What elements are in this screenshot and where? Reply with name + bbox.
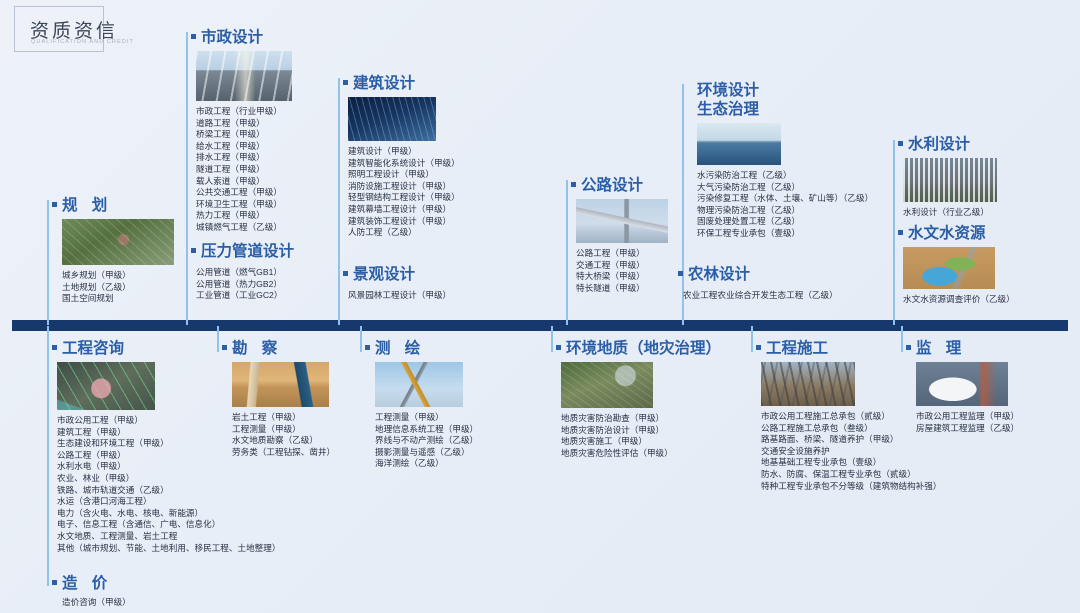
block-municipal-design[interactable]: 市政设计 市政工程（行业甲级） 道路工程（甲级） 桥梁工程（甲级） 给水工程（甲… <box>191 29 341 234</box>
list-item: 水运（含港口河海工程） <box>57 496 382 508</box>
list-item: 大气污染防治工程（乙级） <box>697 182 897 194</box>
theodolite-thumbnail <box>375 362 463 407</box>
square-bullet-icon <box>365 345 370 350</box>
list-item: 公共交通工程（甲级） <box>196 187 341 199</box>
block-environmental-geology-items: 地质灾害防治勘查（甲级） 地质灾害防治设计（甲级） 地质灾害施工（甲级） 地质灾… <box>561 413 756 459</box>
block-landscape-design-items: 风景园林工程设计（甲级） <box>348 290 533 302</box>
block-landscape-design-title: 景观设计 <box>343 266 533 284</box>
list-item: 环境卫生工程（甲级） <box>196 199 341 211</box>
block-environmental-geology-title: 环境地质（地灾治理） <box>556 340 756 358</box>
square-bullet-icon <box>222 345 227 350</box>
list-item: 水文地质、工程测量、岩土工程 <box>57 531 382 543</box>
block-landscape-design[interactable]: 景观设计 风景园林工程设计（甲级） <box>343 266 533 302</box>
list-item: 工程测量（甲级） <box>375 412 535 424</box>
square-bullet-icon <box>343 80 348 85</box>
block-cost-estimating[interactable]: 造 价 造价咨询（甲级） <box>52 575 252 609</box>
list-item: 地基基础工程专业承包（壹级） <box>761 457 986 469</box>
lake-thumbnail <box>697 123 781 165</box>
block-geotechnical-investigation[interactable]: 勘 察 岩土工程（甲级） 工程测量（甲级） 水文地质勘察（乙级） 劳务类（工程钻… <box>222 340 362 458</box>
square-bullet-icon <box>898 230 903 235</box>
block-architectural-design-items: 建筑设计（甲级） 建筑智能化系统设计（甲级） 照明工程设计（甲级） 消防设施工程… <box>348 146 533 239</box>
list-item: 桥梁工程（甲级） <box>196 129 341 141</box>
aerial-village-thumbnail <box>62 219 174 265</box>
block-hydrology-water-resources[interactable]: 水文水资源 水文水资源调查评价（乙级） <box>898 225 1073 306</box>
block-environmental-design[interactable]: 环境设计 生态治理 水污染防治工程（乙级） 大气污染防治工程（乙级） 污染修复工… <box>687 81 897 240</box>
list-item: 市政工程（行业甲级） <box>196 106 341 118</box>
block-surveying-mapping-items: 工程测量（甲级） 地理信息系统工程（甲级） 界线与不动产测绘（乙级） 摄影测量与… <box>375 412 535 470</box>
building-facade-thumbnail <box>348 97 436 141</box>
block-environmental-geology[interactable]: 环境地质（地灾治理） 地质灾害防治勘查（甲级） 地质灾害防治设计（甲级） 地质灾… <box>556 340 756 459</box>
list-item: 路基路面、桥梁、隧道养护（甲级） <box>761 434 986 446</box>
block-supervision-title: 监 理 <box>906 340 1071 358</box>
block-environmental-design-subtitle: 生态治理 <box>687 100 897 119</box>
list-item: 铁路、城市轨道交通（乙级） <box>57 485 382 497</box>
list-item: 建筑装饰工程设计（甲级） <box>348 216 533 228</box>
block-agro-forestry-design-title: 农林设计 <box>678 266 908 284</box>
list-item: 建筑设计（甲级） <box>348 146 533 158</box>
list-item: 其他（城市规划、节能、土地利用、移民工程、土地整理） <box>57 543 382 555</box>
list-item: 地质灾害防治勘查（甲级） <box>561 413 756 425</box>
block-cost-estimating-items: 造价咨询（甲级） <box>62 597 252 609</box>
connector-highway <box>566 180 568 325</box>
list-item: 消防设施工程设计（甲级） <box>348 181 533 193</box>
block-agro-forestry-design[interactable]: 农林设计 农业工程农业综合开发生态工程（乙级） <box>678 266 908 302</box>
block-supervision-items: 市政公用工程监理（甲级） 房屋建筑工程监理（乙级） <box>916 411 1071 434</box>
square-bullet-icon <box>191 34 196 39</box>
block-geotechnical-investigation-items: 岩土工程（甲级） 工程测量（甲级） 水文地质勘察（乙级） 劳务类（工程钻探、凿井… <box>232 412 362 458</box>
list-item: 海洋测绘（乙级） <box>375 458 535 470</box>
hydrology-diagram-thumbnail <box>903 247 995 289</box>
block-planning-items: 城乡规划（甲级） 土地规划（乙级） 国土空间规划 <box>62 270 182 305</box>
list-item: 物理污染防治工程（乙级） <box>697 205 897 217</box>
construction-site-thumbnail <box>761 362 855 406</box>
square-bullet-icon <box>191 248 196 253</box>
list-item: 农业工程农业综合开发生态工程（乙级） <box>683 290 908 302</box>
connector-consulting <box>47 326 49 586</box>
timeline-bar <box>12 320 1068 331</box>
block-architectural-design[interactable]: 建筑设计 建筑设计（甲级） 建筑智能化系统设计（甲级） 照明工程设计（甲级） 消… <box>343 75 533 239</box>
list-item: 风景园林工程设计（甲级） <box>348 290 533 302</box>
list-item: 环保工程专业承包（壹级） <box>697 228 897 240</box>
list-item: 地质灾害防治设计（甲级） <box>561 425 756 437</box>
list-item: 污染修复工程（水体、土壤、矿山等）（乙级） <box>697 193 897 205</box>
list-item: 国土空间规划 <box>62 293 182 305</box>
list-item: 建筑幕墙工程设计（甲级） <box>348 204 533 216</box>
list-item: 交通安全设施养护 <box>761 446 986 458</box>
helmet-thumbnail <box>916 362 1008 406</box>
connector-geology <box>551 326 553 352</box>
square-bullet-icon <box>343 271 348 276</box>
list-item: 电力（含火电、水电、核电、新能源） <box>57 508 382 520</box>
block-planning-title: 规 划 <box>52 197 182 215</box>
block-agro-forestry-design-items: 农业工程农业综合开发生态工程（乙级） <box>683 290 908 302</box>
list-item: 电子、信息工程（含通信、广电、信息化） <box>57 519 382 531</box>
infographic-canvas: 资质资信 QUALIFICATION AND CREDIT 规 划 城乡规划（甲… <box>0 0 1080 613</box>
block-water-conservancy-design-title: 水利设计 <box>898 136 1058 154</box>
list-item: 房屋建筑工程监理（乙级） <box>916 423 1071 435</box>
list-item: 水文水资源调查评价（乙级） <box>903 294 1073 306</box>
block-planning[interactable]: 规 划 城乡规划（甲级） 土地规划（乙级） 国土空间规划 <box>52 197 182 305</box>
square-bullet-icon <box>556 345 561 350</box>
list-item: 农业、林业（甲级） <box>57 473 382 485</box>
logo-title-en: QUALIFICATION AND CREDIT <box>31 39 134 45</box>
block-supervision[interactable]: 监 理 市政公用工程监理（甲级） 房屋建筑工程监理（乙级） <box>906 340 1071 434</box>
block-pressure-pipeline-design-items: 公用管道（燃气GB1） 公用管道（热力GB2） 工业管道（工业GC2） <box>196 267 341 302</box>
block-geotechnical-investigation-title: 勘 察 <box>222 340 362 358</box>
block-water-conservancy-design[interactable]: 水利设计 水利设计（行业乙级） <box>898 136 1058 219</box>
list-item: 劳务类（工程钻探、凿井） <box>232 447 362 459</box>
list-item: 城镇燃气工程（乙级） <box>196 222 341 234</box>
square-bullet-icon <box>52 580 57 585</box>
block-municipal-design-items: 市政工程（行业甲级） 道路工程（甲级） 桥梁工程（甲级） 给水工程（甲级） 排水… <box>196 106 341 234</box>
block-pressure-pipeline-design[interactable]: 压力管道设计 公用管道（燃气GB1） 公用管道（热力GB2） 工业管道（工业GC… <box>191 243 341 302</box>
list-item: 城乡规划（甲级） <box>62 270 182 282</box>
list-item: 水文地质勘察（乙级） <box>232 435 362 447</box>
landslide-thumbnail <box>561 362 653 408</box>
square-bullet-icon <box>52 202 57 207</box>
list-item: 工程测量（甲级） <box>232 424 362 436</box>
list-item: 水利设计（行业乙级） <box>903 207 1058 219</box>
block-surveying-mapping-title: 测 绘 <box>365 340 535 358</box>
list-item: 照明工程设计（甲级） <box>348 169 533 181</box>
block-municipal-design-title: 市政设计 <box>191 29 341 47</box>
block-pressure-pipeline-design-title: 压力管道设计 <box>191 243 341 261</box>
list-item: 公用管道（燃气GB1） <box>196 267 341 279</box>
square-bullet-icon <box>898 141 903 146</box>
logo: 资质资信 QUALIFICATION AND CREDIT <box>14 6 118 56</box>
block-cost-estimating-title: 造 价 <box>52 575 252 593</box>
list-item: 市政公用工程监理（甲级） <box>916 411 1071 423</box>
connector-planning <box>47 200 49 325</box>
survey-field-thumbnail <box>232 362 329 407</box>
list-item: 地理信息系统工程（甲级） <box>375 424 535 436</box>
list-item: 摄影测量与遥感（乙级） <box>375 447 535 459</box>
list-item: 造价咨询（甲级） <box>62 597 252 609</box>
list-item: 建筑智能化系统设计（甲级） <box>348 158 533 170</box>
city-road-thumbnail <box>196 51 292 101</box>
list-item: 道路工程（甲级） <box>196 118 341 130</box>
list-item: 轻型钢结构工程设计（甲级） <box>348 192 533 204</box>
list-item: 界线与不动产测绘（乙级） <box>375 435 535 447</box>
list-item: 公路工程（甲级） <box>576 248 711 260</box>
list-item: 载人索道（甲级） <box>196 176 341 188</box>
block-hydrology-water-resources-title: 水文水资源 <box>898 225 1073 243</box>
dam-thumbnail <box>903 158 997 202</box>
list-item: 工业管道（工业GC2） <box>196 290 341 302</box>
list-item: 土地规划（乙级） <box>62 282 182 294</box>
list-item: 地质灾害施工（甲级） <box>561 436 756 448</box>
square-bullet-icon <box>756 345 761 350</box>
list-item: 水利水电（甲级） <box>57 461 382 473</box>
list-item: 隧道工程（甲级） <box>196 164 341 176</box>
list-item: 固废处理处置工程（乙级） <box>697 216 897 228</box>
list-item: 特种工程专业承包不分等级（建筑物结构补强） <box>761 481 986 493</box>
square-bullet-icon <box>906 345 911 350</box>
block-environmental-design-title: 环境设计 <box>687 81 897 100</box>
block-surveying-mapping[interactable]: 测 绘 工程测量（甲级） 地理信息系统工程（甲级） 界线与不动产测绘（乙级） 摄… <box>365 340 535 470</box>
list-item: 防水、防腐、保温工程专业承包（贰级） <box>761 469 986 481</box>
square-bullet-icon <box>678 271 683 276</box>
list-item: 热力工程（甲级） <box>196 210 341 222</box>
list-item: 人防工程（乙级） <box>348 227 533 239</box>
list-item: 地质灾害危险性评估（甲级） <box>561 448 756 460</box>
block-environmental-design-items: 水污染防治工程（乙级） 大气污染防治工程（乙级） 污染修复工程（水体、土壤、矿山… <box>697 170 897 240</box>
bridge-thumbnail <box>576 199 668 243</box>
square-bullet-icon <box>52 345 57 350</box>
list-item: 水污染防治工程（乙级） <box>697 170 897 182</box>
list-item: 排水工程（甲级） <box>196 152 341 164</box>
block-architectural-design-title: 建筑设计 <box>343 75 533 93</box>
gis-map-thumbnail <box>57 362 155 410</box>
list-item: 公用管道（热力GB2） <box>196 279 341 291</box>
connector-municipal <box>186 32 188 325</box>
list-item: 岩土工程（甲级） <box>232 412 362 424</box>
block-water-conservancy-design-items: 水利设计（行业乙级） <box>903 207 1058 219</box>
list-item: 给水工程（甲级） <box>196 141 341 153</box>
square-bullet-icon <box>571 182 576 187</box>
block-hydrology-water-resources-items: 水文水资源调查评价（乙级） <box>903 294 1073 306</box>
